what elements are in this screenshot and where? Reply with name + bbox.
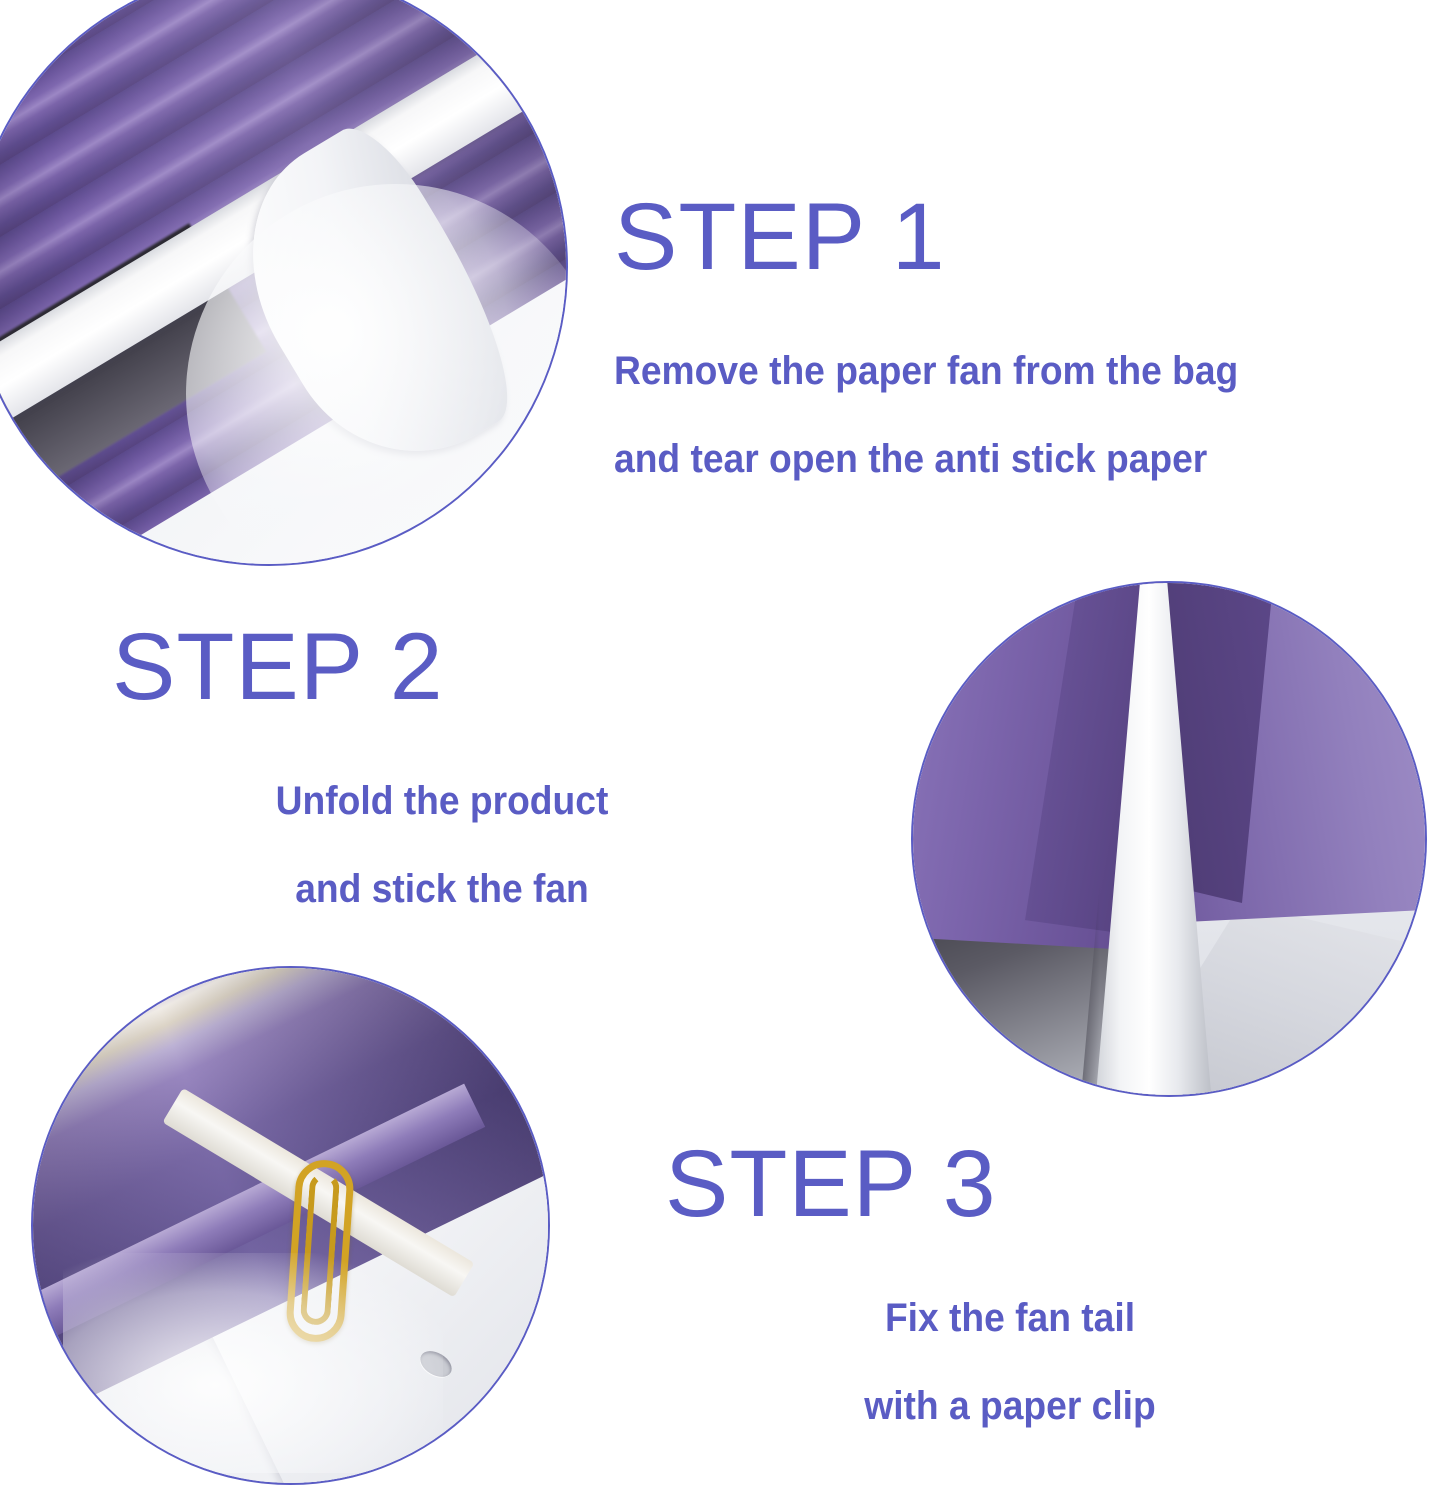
step-3-line-2: with a paper clip [689, 1386, 1331, 1426]
instruction-infographic: STEP 1 Remove the paper fan from the bag… [0, 0, 1445, 1497]
step-1-text-block: STEP 1 Remove the paper fan from the bag… [614, 190, 1285, 479]
step-1-line-2: and tear open the anti stick paper [614, 439, 1238, 479]
step-3-line-1: Fix the fan tail [689, 1298, 1331, 1338]
step-2-line-2: and stick the fan [135, 869, 749, 909]
step-1-title: STEP 1 [614, 190, 1285, 285]
step-2-line-1: Unfold the product [135, 781, 749, 821]
photo-step-3-paper-clip [33, 968, 548, 1483]
photo-step-1-folded-fan [0, 0, 566, 564]
photo-step-3-scene [33, 968, 548, 1483]
step-3-text-block: STEP 3 Fix the fan tail with a paper cli… [665, 1137, 1355, 1426]
photo-step-2-scene [913, 583, 1425, 1095]
step-2-title: STEP 2 [112, 620, 772, 715]
photo-step-2-unfolded-fan [913, 583, 1425, 1095]
step-1-line-1: Remove the paper fan from the bag [614, 351, 1238, 391]
step-3-title: STEP 3 [665, 1137, 1355, 1232]
highlight-glow [63, 1253, 443, 1473]
photo-step-1-scene [0, 0, 566, 564]
step-2-text-block: STEP 2 Unfold the product and stick the … [112, 620, 772, 909]
